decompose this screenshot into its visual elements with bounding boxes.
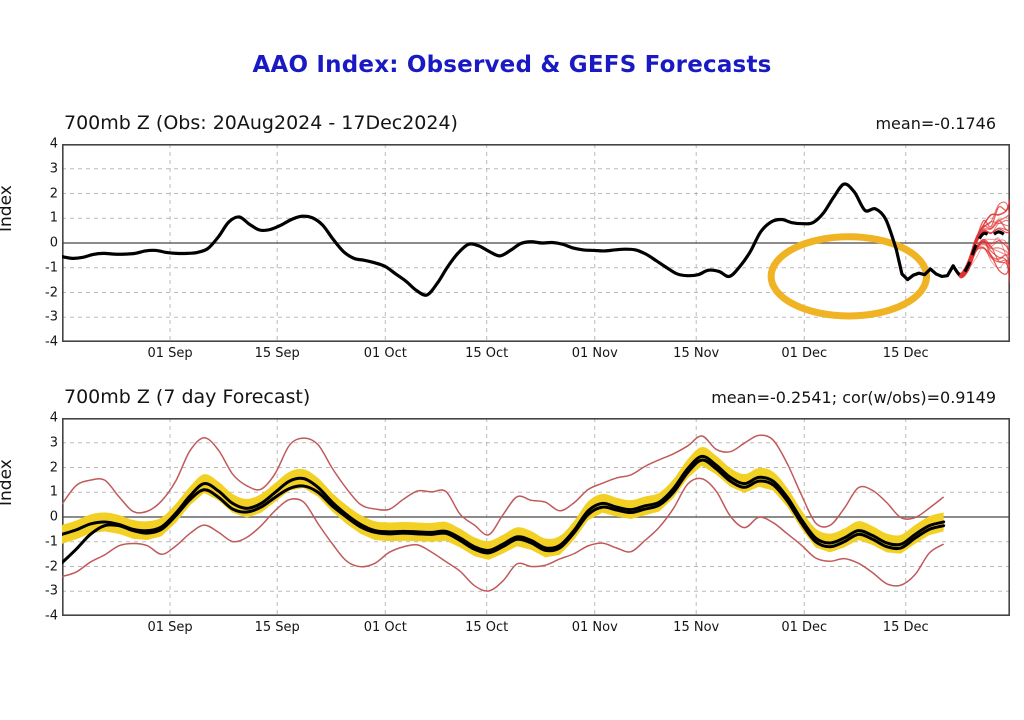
ytick: -4	[32, 335, 58, 350]
xtick: 15 Sep	[255, 346, 300, 361]
ytick: 4	[32, 411, 58, 426]
observed-chart-svg	[62, 144, 1010, 342]
observed-panel-header: 700mb Z (Obs: 20Aug2024 - 17Dec2024) mea…	[60, 112, 1010, 142]
forecast-panel-subtitle: 700mb Z (7 day Forecast)	[64, 386, 310, 408]
ytick: 0	[32, 236, 58, 251]
observed-panel-xtick-row: 01 Sep 15 Sep 01 Oct 15 Oct 01 Nov 15 No…	[62, 346, 1010, 368]
xtick: 15 Sep	[255, 620, 300, 635]
ytick: 0	[32, 510, 58, 525]
ytick: -1	[32, 534, 58, 549]
ytick: 3	[32, 161, 58, 176]
ytick: 2	[32, 460, 58, 475]
forecast-panel-xtick-row: 01 Sep 15 Sep 01 Oct 15 Oct 01 Nov 15 No…	[62, 620, 1010, 642]
ytick: 4	[32, 137, 58, 152]
forecast-panel-header: 700mb Z (7 day Forecast) mean=-0.2541; c…	[60, 386, 1010, 416]
observed-overlay-line	[62, 460, 944, 563]
xtick: 01 Nov	[572, 346, 618, 361]
xtick: 15 Oct	[465, 346, 508, 361]
ytick: -4	[32, 609, 58, 624]
ytick: -3	[32, 310, 58, 325]
observed-panel-subtitle: 700mb Z (Obs: 20Aug2024 - 17Dec2024)	[64, 112, 458, 134]
ytick: 1	[32, 485, 58, 500]
xtick: 01 Dec	[781, 346, 827, 361]
xtick: 01 Oct	[364, 346, 407, 361]
forecast-chart-svg	[62, 418, 1010, 616]
xtick: 15 Nov	[673, 620, 719, 635]
observed-panel-ylabel: Index	[0, 185, 16, 232]
xtick: 15 Nov	[673, 346, 719, 361]
forecast-panel-ytick-column: 4 3 2 1 0 -1 -2 -3 -4	[28, 418, 58, 616]
ytick: -2	[32, 559, 58, 574]
ensemble-members-group	[953, 199, 1010, 283]
xtick: 15 Dec	[883, 620, 929, 635]
ytick: -3	[32, 584, 58, 599]
xtick: 01 Sep	[147, 346, 192, 361]
xtick: 01 Sep	[147, 620, 192, 635]
page-title: AAO Index: Observed & GEFS Forecasts	[0, 52, 1024, 78]
observed-panel-mean-stat: mean=-0.1746	[875, 114, 996, 133]
observed-panel-ytick-column: 4 3 2 1 0 -1 -2 -3 -4	[28, 144, 58, 342]
xtick: 15 Oct	[465, 620, 508, 635]
ytick: -2	[32, 285, 58, 300]
ensemble-member-line	[953, 245, 1010, 277]
xtick: 01 Oct	[364, 620, 407, 635]
ytick: 1	[32, 211, 58, 226]
forecast-panel-mean-cor-stat: mean=-0.2541; cor(w/obs)=0.9149	[711, 388, 996, 407]
xtick: 01 Dec	[781, 620, 827, 635]
ytick: -1	[32, 260, 58, 275]
observed-panel: 700mb Z (Obs: 20Aug2024 - 17Dec2024) mea…	[0, 112, 1024, 380]
ensemble-mean-line	[953, 232, 1010, 275]
observed-plot-area	[62, 144, 1010, 342]
xtick: 01 Nov	[572, 620, 618, 635]
ytick: 2	[32, 186, 58, 201]
forecast-plot-area	[62, 418, 1010, 616]
ytick: 3	[32, 435, 58, 450]
xtick: 15 Dec	[883, 346, 929, 361]
forecast-panel-ylabel: Index	[0, 459, 16, 506]
forecast-panel: 700mb Z (7 day Forecast) mean=-0.2541; c…	[0, 386, 1024, 654]
